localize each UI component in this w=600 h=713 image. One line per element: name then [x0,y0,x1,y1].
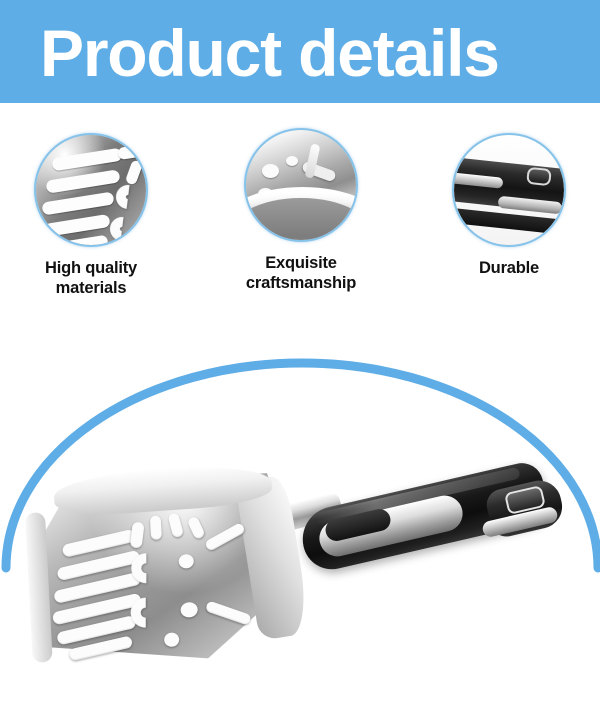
feature-label: Durable [414,258,600,278]
feature-image-durable [452,133,566,247]
feature-label: High quality materials [0,258,186,298]
scoop-bowl-group [19,457,311,688]
feature-exquisite-craftsmanship: Exquisite craftsmanship [206,128,396,293]
feature-image-high-quality-materials [34,133,148,247]
page-title: Product details [40,15,499,91]
product-image-litter-scoop [0,318,600,713]
hero-product-section [0,318,600,713]
feature-high-quality-materials: High quality materials [0,133,186,298]
header-banner: Product details [0,0,600,103]
macro-handle-image [454,135,564,245]
feature-image-exquisite-craftsmanship [244,128,358,242]
feature-label-line1: High quality [45,259,137,277]
product-details-infographic: Product details [0,0,600,713]
feature-durable: Durable [414,133,600,278]
macro-slots-image [36,135,146,245]
feature-label-line1: Durable [479,259,539,277]
feature-label-line2: craftsmanship [246,274,356,292]
feature-row: High quality materials [0,103,600,333]
macro-bowl-edge-image [246,130,356,240]
feature-label-line2: materials [56,279,127,297]
feature-label-line1: Exquisite [265,254,337,272]
feature-label: Exquisite craftsmanship [206,253,396,293]
